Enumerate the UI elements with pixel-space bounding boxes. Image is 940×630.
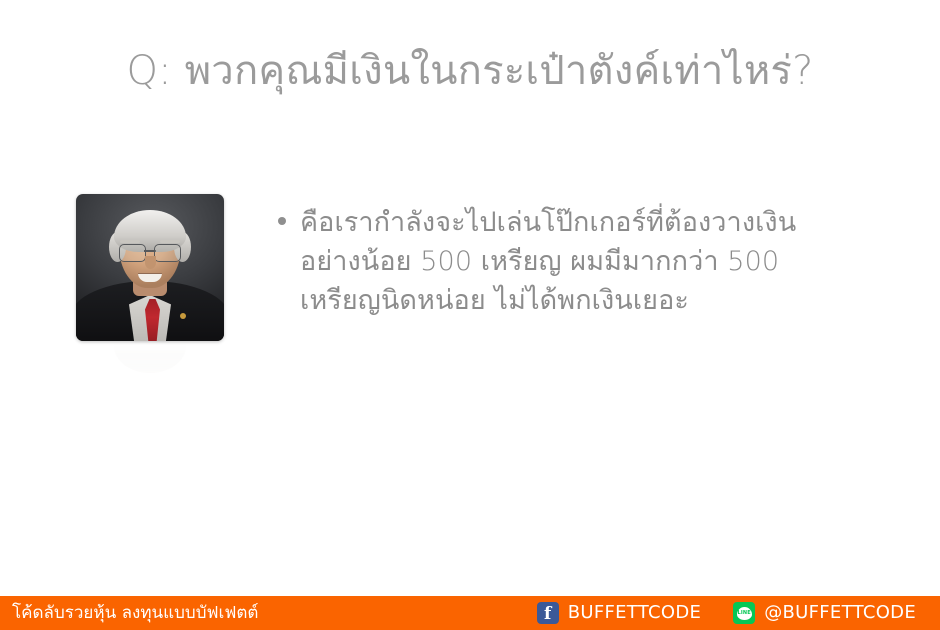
slide-canvas: Q: พวกคุณมีเงินในกระเป๋าตังค์เท่าไหร่?: [0, 0, 940, 630]
portrait-photo: [76, 194, 224, 389]
footer-brand-text: โค้ดลับรวยหุ้น ลงทุนแบบบัฟเฟตต์: [0, 605, 258, 622]
portrait-reflection: [76, 343, 224, 389]
social-facebook[interactable]: f BUFFETTCODE: [537, 602, 702, 624]
page-title: Q: พวกคุณมีเงินในกระเป๋าตังค์เท่าไหร่?: [0, 46, 940, 96]
line-handle-label: @BUFFETTCODE: [764, 604, 916, 622]
footer-social-group: f BUFFETTCODE LINE @BUFFETTCODE: [537, 602, 940, 624]
bullet-line-2: อย่างน้อย 500 เหรียญ ผมมีมากกว่า 500: [300, 242, 796, 281]
body-content: คือเรากำลังจะไปเล่นโป๊กเกอร์ที่ต้องวางเง…: [278, 203, 898, 320]
line-icon-bubble: LINE: [737, 607, 752, 620]
social-line[interactable]: LINE @BUFFETTCODE: [733, 602, 916, 624]
facebook-icon-glyph: f: [544, 606, 551, 623]
person-illustration: [76, 194, 224, 341]
list-item: คือเรากำลังจะไปเล่นโป๊กเกอร์ที่ต้องวางเง…: [278, 203, 898, 320]
portrait-image: [76, 194, 224, 341]
bullet-line-3: เหรียญนิดหน่อย ไม่ได้พกเงินเยอะ: [300, 281, 796, 320]
line-icon[interactable]: LINE: [733, 602, 755, 624]
facebook-handle-label: BUFFETTCODE: [568, 604, 702, 622]
person-illustration-mirror: [76, 343, 224, 389]
bullet-text: คือเรากำลังจะไปเล่นโป๊กเกอร์ที่ต้องวางเง…: [300, 203, 796, 320]
line-icon-glyph: LINE: [737, 611, 750, 616]
footer-bar: โค้ดลับรวยหุ้น ลงทุนแบบบัฟเฟตต์ f BUFFET…: [0, 596, 940, 630]
bullet-icon: [278, 217, 286, 225]
facebook-icon[interactable]: f: [537, 602, 559, 624]
bullet-line-1: คือเรากำลังจะไปเล่นโป๊กเกอร์ที่ต้องวางเง…: [300, 203, 796, 242]
